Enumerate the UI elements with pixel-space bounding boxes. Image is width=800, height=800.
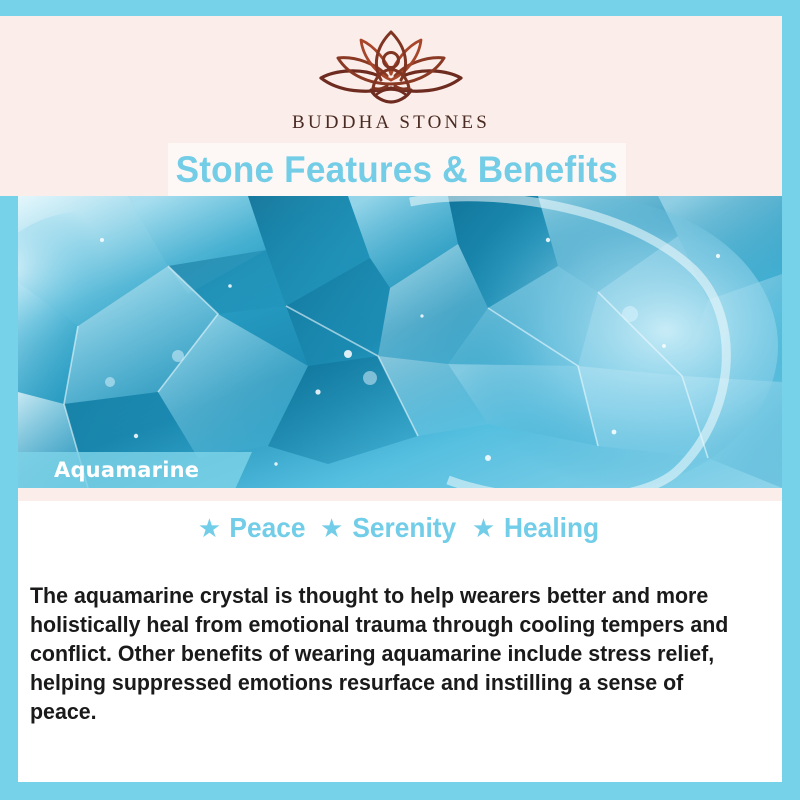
stone-name-label: Aquamarine [54, 458, 199, 482]
frame-rail-top [0, 0, 800, 16]
keyword-healing: Healing [504, 512, 599, 544]
poster-canvas: BUDDHA STONES Stone Features & Benefits [0, 0, 800, 800]
card-top-tint [18, 488, 782, 501]
description-paragraph: The aquamarine crystal is thought to hel… [30, 581, 735, 726]
frame-rail-left [0, 196, 18, 784]
brand-header: BUDDHA STONES [0, 16, 782, 144]
star-icon: ★ [472, 513, 495, 544]
info-card: ★Peace★Serenity★Healing The aquamarine c… [18, 488, 782, 782]
keyword-peace: Peace [229, 512, 305, 544]
star-icon: ★ [320, 513, 343, 544]
keyword-list: ★Peace★Serenity★Healing [18, 512, 782, 544]
page-title: Stone Features & Benefits [176, 149, 618, 191]
title-band: Stone Features & Benefits [168, 143, 626, 196]
hero-image [18, 196, 782, 488]
brand-name: BUDDHA STONES [292, 112, 490, 134]
keyword-serenity: Serenity [353, 512, 457, 544]
frame-rail-right [782, 0, 800, 800]
stone-name-banner: Aquamarine [18, 452, 252, 488]
lotus-meditation-figure-icon [305, 26, 477, 110]
frame-rail-bottom [0, 782, 800, 800]
star-icon: ★ [198, 513, 221, 544]
